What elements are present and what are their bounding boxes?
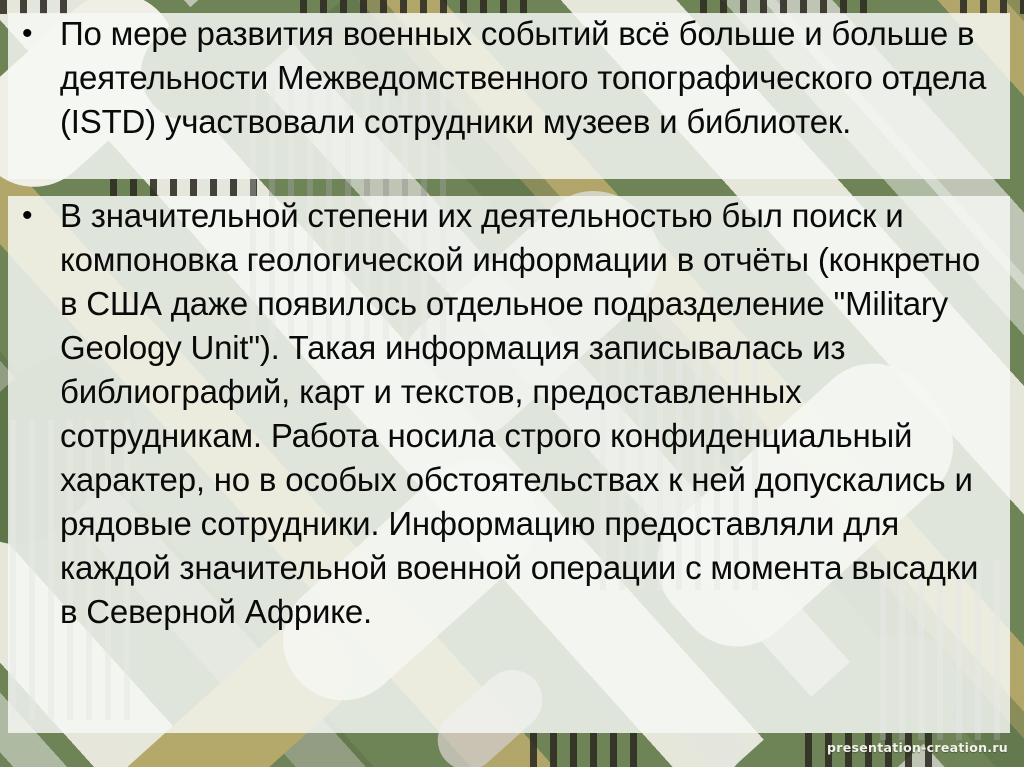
slide-canvas: По мере развития военных событий всё бол… [0, 0, 1024, 767]
slide-content: По мере развития военных событий всё бол… [0, 0, 1024, 767]
bullet-marker-icon [14, 12, 60, 56]
watermark-label: presentation-creation.ru [827, 740, 1008, 755]
bullet-item-1: По мере развития военных событий всё бол… [14, 12, 1002, 144]
bullet-text-1: По мере развития военных событий всё бол… [60, 12, 1002, 144]
bullet-text-2: В значительной степени их деятельностью … [60, 194, 1002, 634]
bullet-marker-icon [14, 194, 60, 238]
bullet-item-2: В значительной степени их деятельностью … [14, 194, 1002, 634]
